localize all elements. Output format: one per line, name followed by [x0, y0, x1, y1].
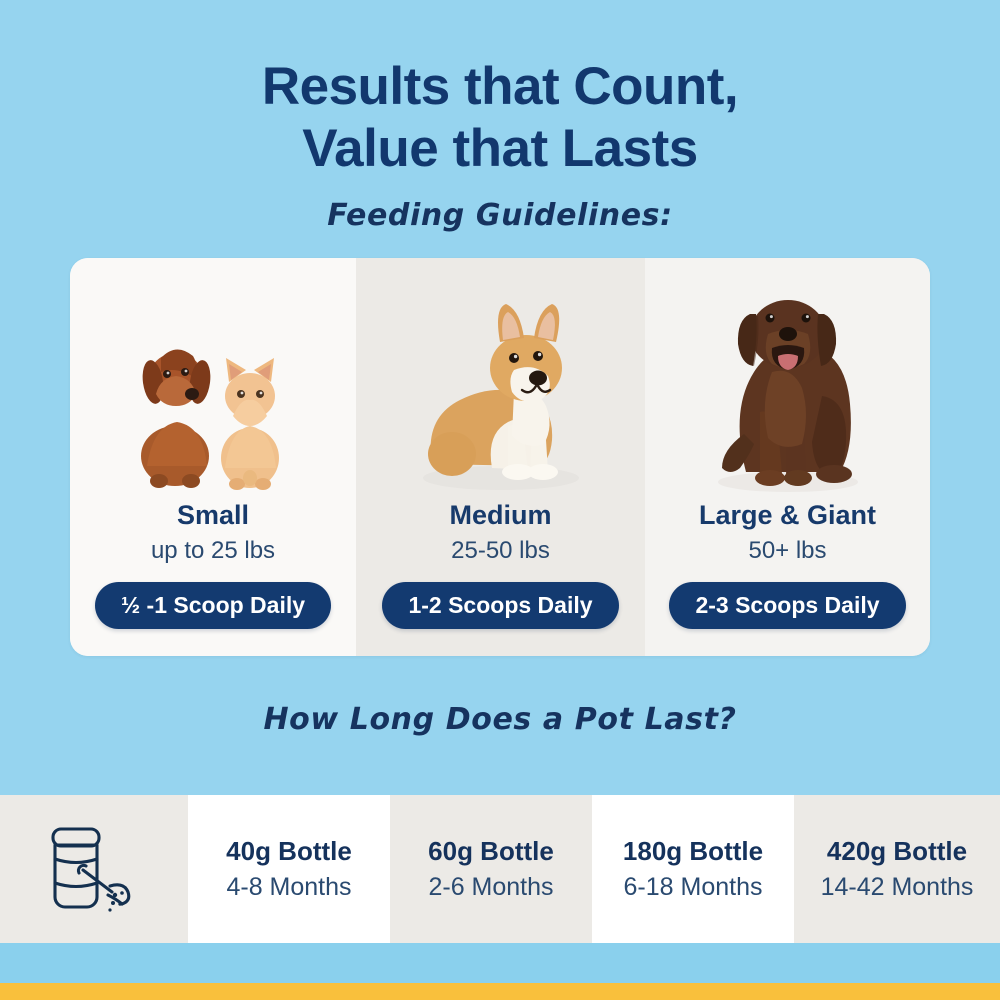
chocolate-labrador-icon: [688, 276, 888, 496]
bottle-cell-420g: 420g Bottle 14-42 Months: [794, 795, 1000, 943]
bottle-icon-cell: [0, 795, 188, 943]
bottle-cell-180g: 180g Bottle 6-18 Months: [592, 795, 794, 943]
dachshund-and-cat-icon: [113, 316, 313, 496]
large-pet-art: [645, 258, 930, 496]
card-weight-range: up to 25 lbs: [151, 536, 275, 566]
card-dosage-badge: 1-2 Scoops Daily: [382, 582, 618, 629]
bottle-size-label: 180g Bottle: [623, 836, 763, 866]
bottle-duration-label: 4-8 Months: [226, 872, 351, 902]
bottle-size-label: 420g Bottle: [827, 836, 967, 866]
feeding-card-small: Small up to 25 lbs ½ -1 Scoop Daily: [70, 258, 356, 656]
supplement-jar-with-scoop-icon: [42, 823, 146, 915]
headline-line-1: Results that Count,: [0, 56, 1000, 118]
card-size-label: Large & Giant: [699, 500, 876, 530]
card-size-label: Small: [177, 500, 249, 530]
bottle-size-label: 60g Bottle: [428, 836, 554, 866]
card-dosage-badge: ½ -1 Scoop Daily: [95, 582, 331, 629]
medium-pet-art: [356, 258, 645, 496]
bottom-yellow-band: [0, 983, 1000, 1000]
bottle-duration-label: 2-6 Months: [428, 872, 553, 902]
infographic-page: Results that Count, Value that Lasts Fee…: [0, 0, 1000, 1000]
corgi-icon: [396, 296, 606, 496]
feeding-card-large: Large & Giant 50+ lbs 2-3 Scoops Daily: [645, 258, 930, 656]
card-size-label: Medium: [449, 500, 551, 530]
headline-line-2: Value that Lasts: [0, 118, 1000, 180]
bottle-cell-40g: 40g Bottle 4-8 Months: [188, 795, 390, 943]
feeding-guidelines-panel: Small up to 25 lbs ½ -1 Scoop Daily: [70, 258, 930, 656]
small-pet-art: [70, 258, 356, 496]
bottle-cell-60g: 60g Bottle 2-6 Months: [390, 795, 592, 943]
bottle-duration-strip: 40g Bottle 4-8 Months 60g Bottle 2-6 Mon…: [0, 795, 1000, 943]
bottle-duration-label: 6-18 Months: [624, 872, 763, 902]
feeding-guidelines-heading: Feeding Guidelines:: [0, 198, 1000, 233]
page-title: Results that Count, Value that Lasts: [0, 56, 1000, 180]
feeding-card-medium: Medium 25-50 lbs 1-2 Scoops Daily: [356, 258, 645, 656]
pot-duration-heading: How Long Does a Pot Last?: [0, 702, 1000, 737]
card-dosage-badge: 2-3 Scoops Daily: [669, 582, 905, 629]
bottom-blue-band: [0, 943, 1000, 983]
card-weight-range: 25-50 lbs: [451, 536, 550, 566]
bottle-duration-label: 14-42 Months: [821, 872, 974, 902]
bottle-size-label: 40g Bottle: [226, 836, 352, 866]
card-weight-range: 50+ lbs: [748, 536, 826, 566]
